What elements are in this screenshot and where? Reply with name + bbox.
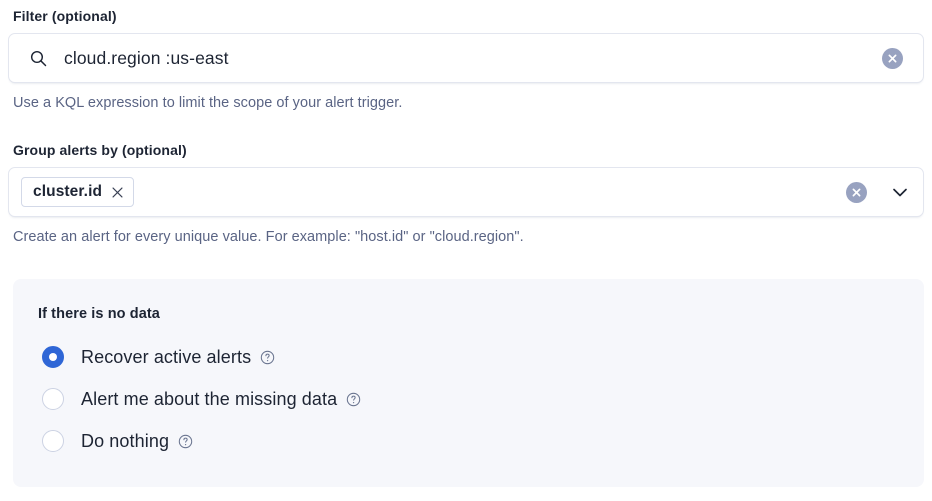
search-icon bbox=[29, 49, 48, 68]
group-alerts-field-group: Group alerts by (optional) cluster.id bbox=[8, 140, 924, 247]
radio-label: Do nothing bbox=[81, 431, 169, 452]
radio-button[interactable] bbox=[42, 388, 64, 410]
radio-button[interactable] bbox=[42, 430, 64, 452]
radio-option-alert-missing-data[interactable]: Alert me about the missing data bbox=[38, 378, 924, 420]
radio-dot bbox=[49, 353, 57, 361]
question-in-circle-icon[interactable] bbox=[337, 392, 361, 407]
close-icon[interactable] bbox=[102, 186, 124, 199]
group-alerts-combobox[interactable]: cluster.id bbox=[8, 167, 924, 217]
alert-settings-form: Filter (optional) cloud.region :us-east … bbox=[0, 0, 932, 501]
filter-field-group: Filter (optional) cloud.region :us-east … bbox=[8, 0, 924, 113]
no-data-radio-group: Recover active alerts Alert me about the… bbox=[38, 336, 924, 462]
clear-icon[interactable] bbox=[882, 48, 903, 69]
group-alerts-help-text: Create an alert for every unique value. … bbox=[8, 227, 924, 247]
filter-value-text: cloud.region :us-east bbox=[48, 48, 882, 69]
radio-label: Recover active alerts bbox=[81, 347, 251, 368]
question-in-circle-icon[interactable] bbox=[251, 350, 275, 365]
chevron-down-icon[interactable] bbox=[877, 181, 913, 203]
radio-option-do-nothing[interactable]: Do nothing bbox=[38, 420, 924, 462]
filter-help-text: Use a KQL expression to limit the scope … bbox=[8, 93, 924, 113]
group-alerts-pill[interactable]: cluster.id bbox=[21, 177, 134, 207]
no-data-title: If there is no data bbox=[38, 305, 924, 323]
question-in-circle-icon[interactable] bbox=[169, 434, 193, 449]
group-alerts-pill-label: cluster.id bbox=[33, 183, 102, 201]
no-data-panel: If there is no data Recover active alert… bbox=[13, 279, 924, 487]
radio-button[interactable] bbox=[42, 346, 64, 368]
group-alerts-label: Group alerts by (optional) bbox=[8, 140, 924, 160]
filter-label: Filter (optional) bbox=[8, 6, 924, 26]
filter-search-input[interactable]: cloud.region :us-east bbox=[8, 33, 924, 83]
clear-icon[interactable] bbox=[846, 182, 867, 203]
radio-label: Alert me about the missing data bbox=[81, 389, 337, 410]
radio-option-recover-active-alerts[interactable]: Recover active alerts bbox=[38, 336, 924, 378]
